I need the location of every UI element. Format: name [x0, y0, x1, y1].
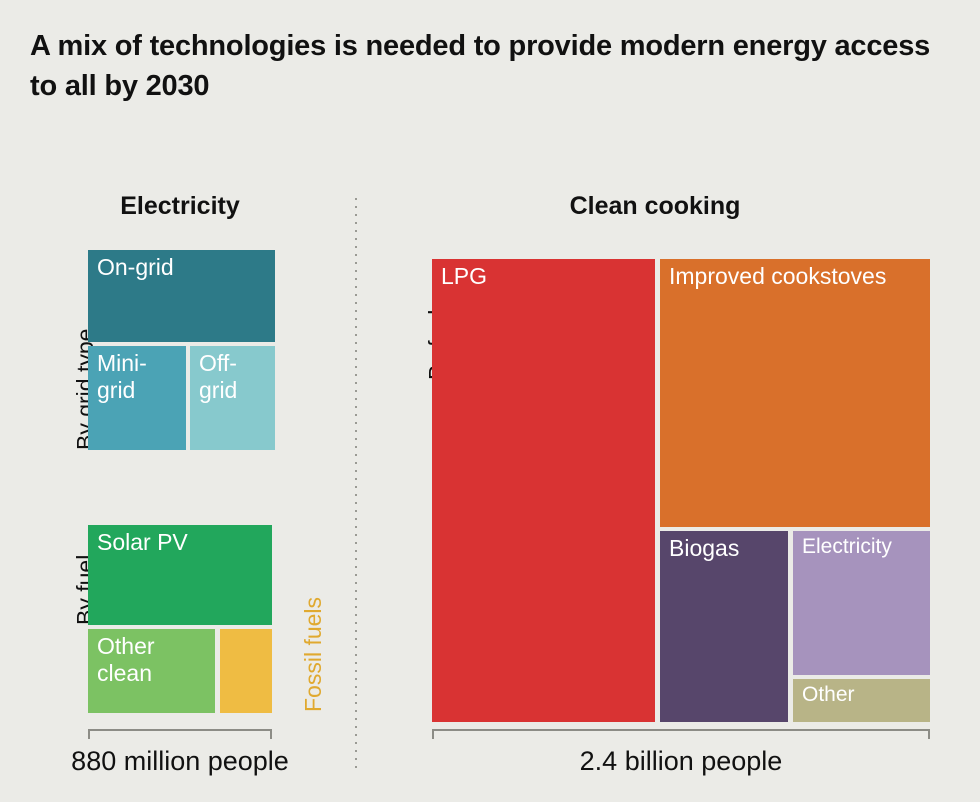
panel-divider: [355, 198, 357, 774]
treemap-cell-lpg[interactable]: LPG: [432, 259, 655, 722]
treemap-cell-solar-pv[interactable]: Solar PV: [88, 525, 272, 625]
total-bracket-clean-cooking: [432, 729, 930, 739]
treemap-cell-mini-grid[interactable]: Mini-grid: [88, 346, 186, 450]
treemap-cell-on-grid[interactable]: On-grid: [88, 250, 275, 342]
treemap-cell-label: LPG: [441, 263, 653, 290]
section-heading-clean-cooking: Clean cooking: [420, 192, 890, 221]
treemap-cell-label: Mini-grid: [97, 350, 184, 404]
treemap-cell-fossil-fuels[interactable]: [220, 629, 272, 713]
treemap-cell-other-clean[interactable]: Other clean: [88, 629, 215, 713]
treemap-cell-label: Electricity: [802, 535, 928, 560]
page-title: A mix of technologies is needed to provi…: [30, 26, 950, 106]
treemap-cell-cooking-other[interactable]: Other: [793, 679, 930, 722]
treemap-cell-label: Other: [802, 683, 928, 708]
total-label-electricity: 880 million people: [20, 746, 340, 777]
total-bracket-electricity: [88, 729, 272, 739]
treemap-cell-biogas[interactable]: Biogas: [660, 531, 788, 722]
treemap-cell-label: Biogas: [669, 535, 786, 562]
treemap-cell-label: Off-grid: [199, 350, 273, 404]
treemap-cell-label: Solar PV: [97, 529, 270, 556]
total-label-clean-cooking: 2.4 billion people: [432, 746, 930, 777]
treemap-cell-label: Other clean: [97, 633, 213, 687]
treemap-cell-off-grid[interactable]: Off-grid: [190, 346, 275, 450]
treemap-cell-cooking-electricity[interactable]: Electricity: [793, 531, 930, 675]
treemap-cell-label: Improved cookstoves: [669, 263, 928, 290]
treemap-cell-label: On-grid: [97, 254, 273, 281]
treemap-cell-label-fossil-fuels: Fossil fuels: [300, 597, 327, 712]
treemap-cell-improved-cookstoves[interactable]: Improved cookstoves: [660, 259, 930, 527]
infographic-canvas: A mix of technologies is needed to provi…: [0, 0, 980, 802]
section-heading-electricity: Electricity: [40, 192, 320, 221]
